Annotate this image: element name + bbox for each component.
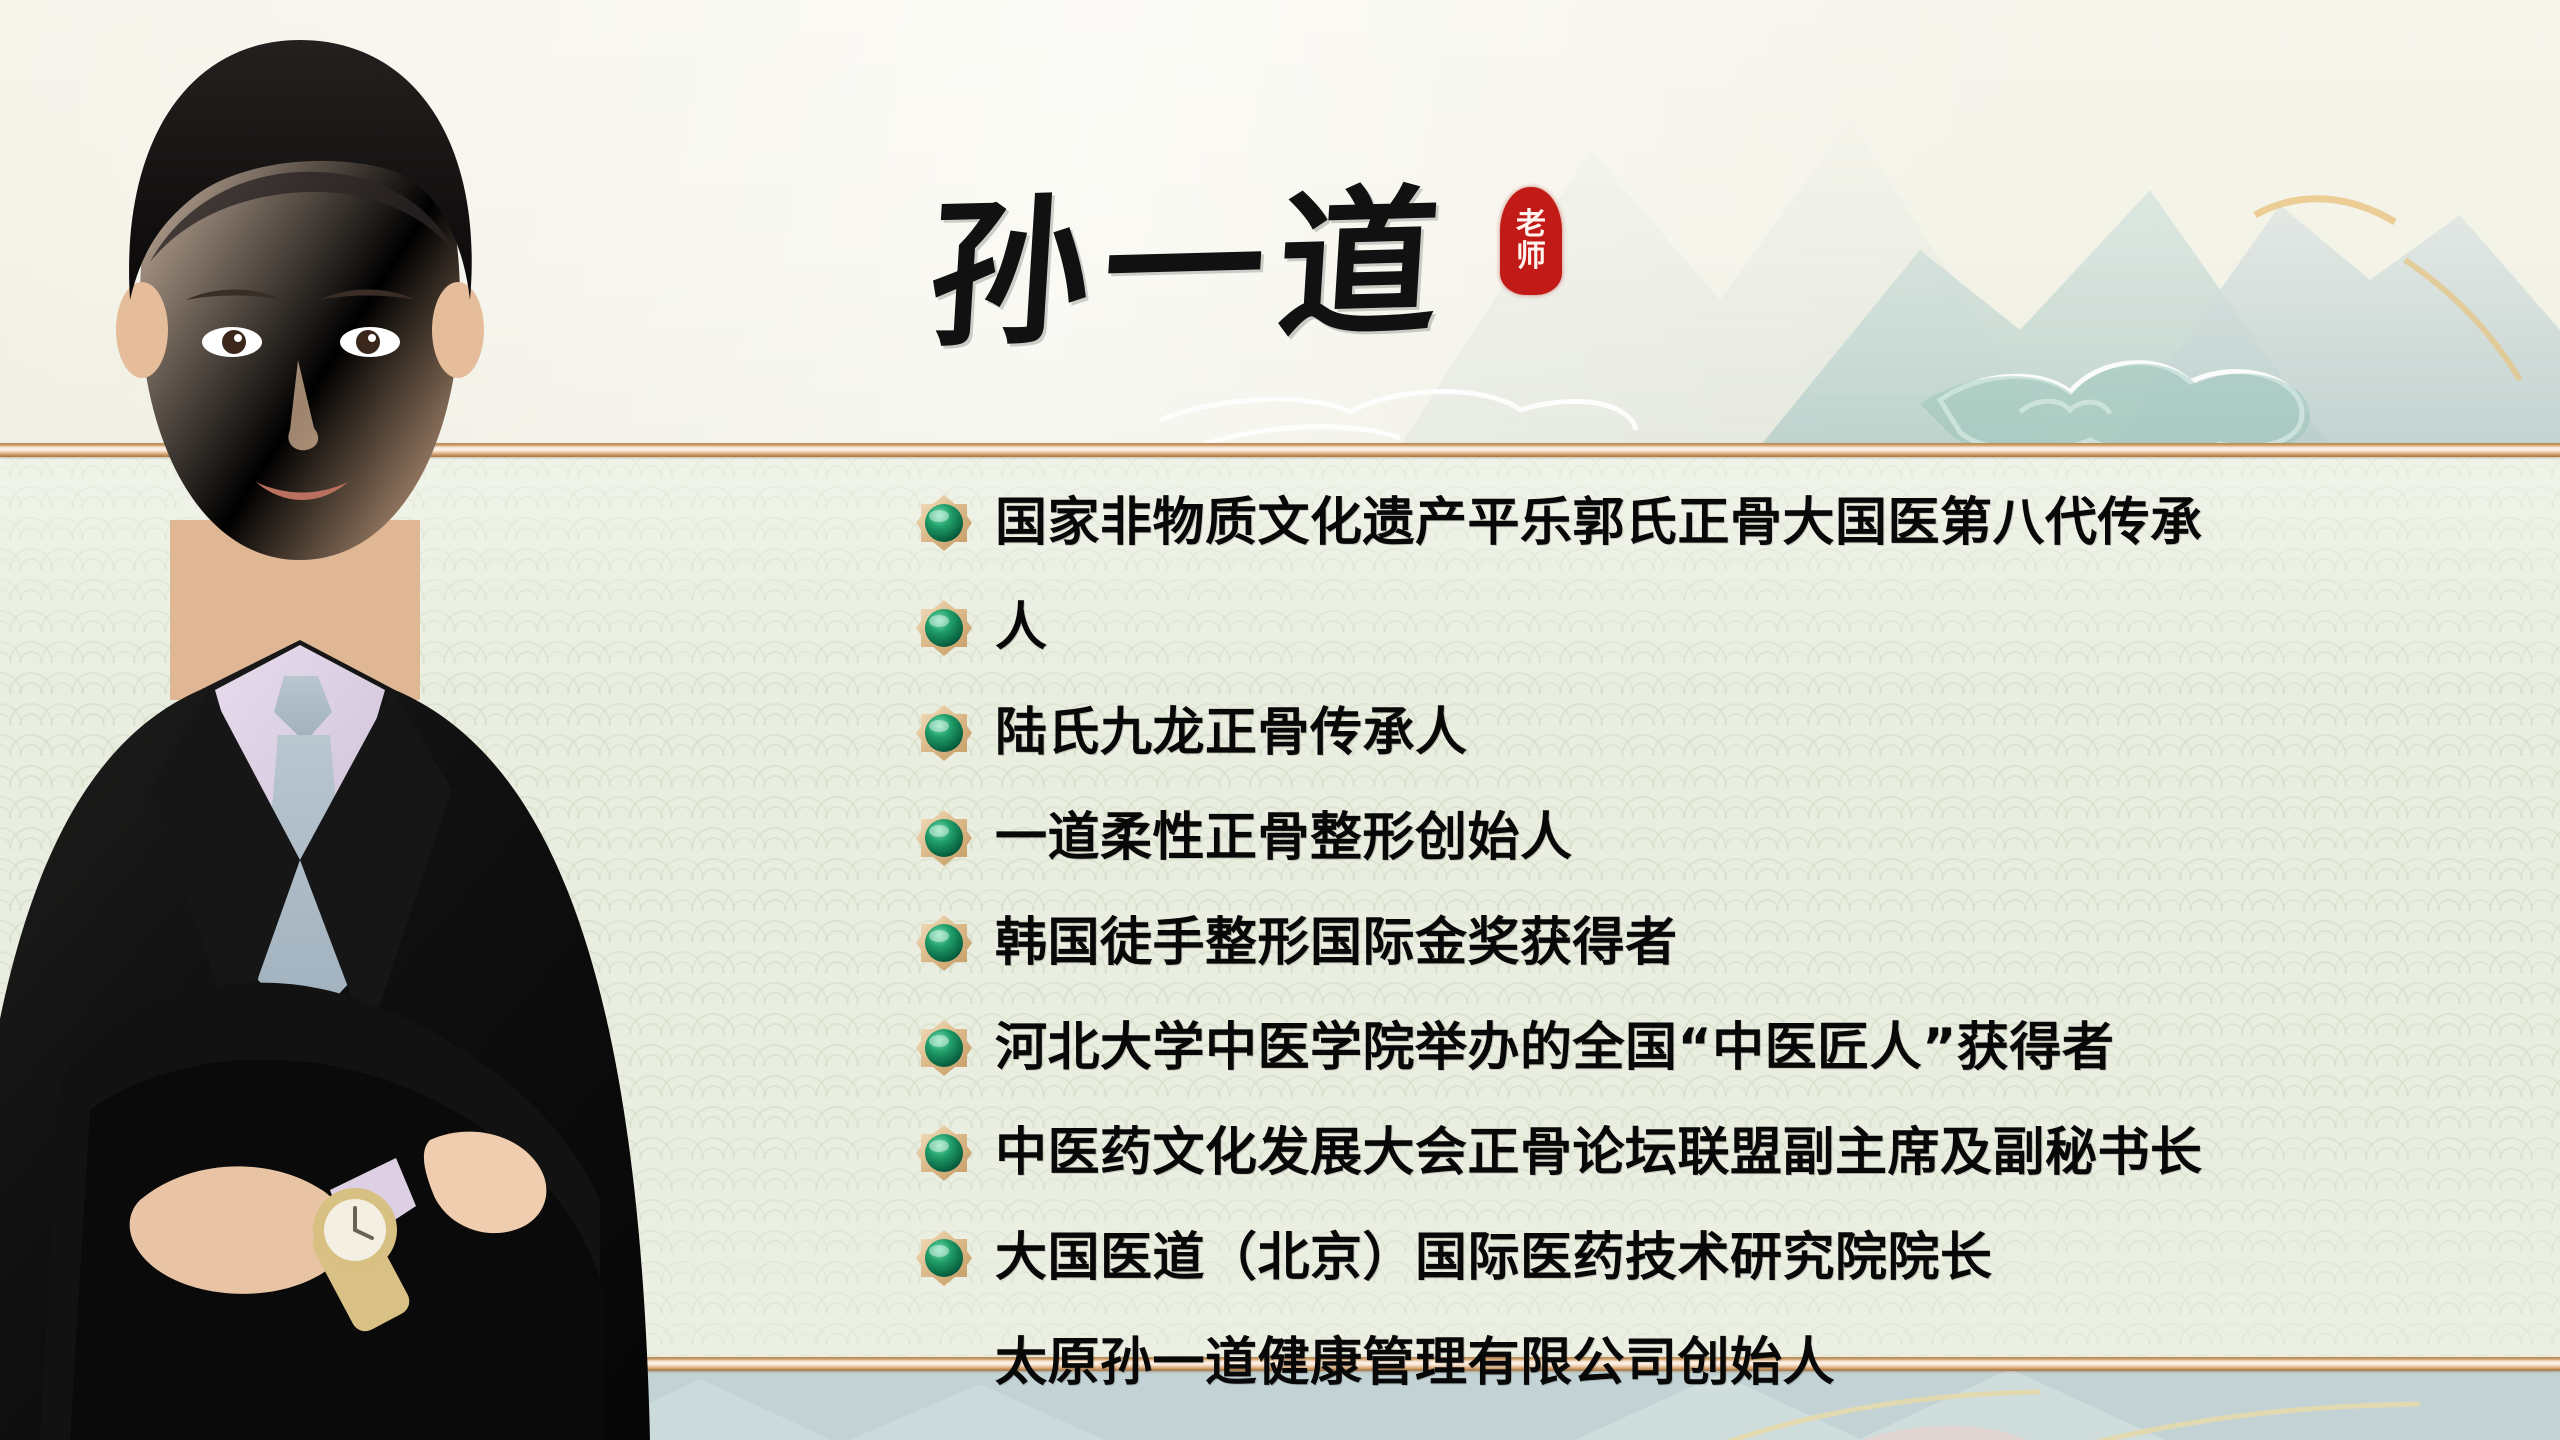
seal-char-top: 老 xyxy=(1516,209,1546,241)
credential-text: 韩国徒手整形国际金奖获得者 xyxy=(995,913,1678,973)
credential-text: 人 xyxy=(995,598,1048,658)
poster-canvas: 孙一道 老 师 xyxy=(0,0,2560,1440)
credential-text: 河北大学中医学院举办的全国“中医匠人”获得者 xyxy=(995,1018,2114,1078)
emerald-gem-bullet-icon xyxy=(915,704,973,762)
credential-text: 中医药文化发展大会正骨论坛联盟副主席及副秘书长 xyxy=(995,1123,2203,1183)
credential-list: 国家非物质文化遗产平乐郭氏正骨大国医第八代传承 人 陆氏九龙正骨传承人 一道柔性… xyxy=(915,470,2535,1415)
emerald-gem-bullet-icon xyxy=(915,1229,973,1287)
list-item: 人 xyxy=(915,575,2535,680)
list-item: 中医药文化发展大会正骨论坛联盟副主席及副秘书长 xyxy=(915,1100,2535,1205)
seal-char-bottom: 师 xyxy=(1516,241,1546,273)
list-item: 河北大学中医学院举办的全国“中医匠人”获得者 xyxy=(915,995,2535,1100)
credential-text: 太原孙一道健康管理有限公司创始人 xyxy=(995,1333,1835,1393)
credential-text: 大国医道（北京）国际医药技术研究院院长 xyxy=(995,1228,1993,1288)
credential-text: 国家非物质文化遗产平乐郭氏正骨大国医第八代传承 xyxy=(995,493,2203,553)
emerald-gem-bullet-icon xyxy=(915,914,973,972)
credential-text: 一道柔性正骨整形创始人 xyxy=(995,808,1573,868)
list-item: 韩国徒手整形国际金奖获得者 xyxy=(915,890,2535,995)
calligraphy-title: 孙一道 老 师 xyxy=(930,175,1690,375)
list-item: 太原孙一道健康管理有限公司创始人 xyxy=(915,1310,2535,1415)
list-item: 大国医道（北京）国际医药技术研究院院长 xyxy=(915,1205,2535,1310)
emerald-gem-bullet-icon xyxy=(915,1124,973,1182)
emerald-gem-bullet-icon xyxy=(915,494,973,552)
emerald-gem-bullet-icon xyxy=(915,809,973,867)
credential-text: 陆氏九龙正骨传承人 xyxy=(995,703,1468,763)
emerald-gem-bullet-icon xyxy=(915,599,973,657)
page-title: 孙一道 xyxy=(924,167,1577,374)
list-item: 一道柔性正骨整形创始人 xyxy=(915,785,2535,890)
list-item: 陆氏九龙正骨传承人 xyxy=(915,680,2535,785)
list-item: 国家非物质文化遗产平乐郭氏正骨大国医第八代传承 xyxy=(915,470,2535,575)
red-seal-stamp: 老 师 xyxy=(1500,187,1562,295)
gold-divider-top xyxy=(0,443,2560,457)
emerald-gem-bullet-icon xyxy=(915,1019,973,1077)
